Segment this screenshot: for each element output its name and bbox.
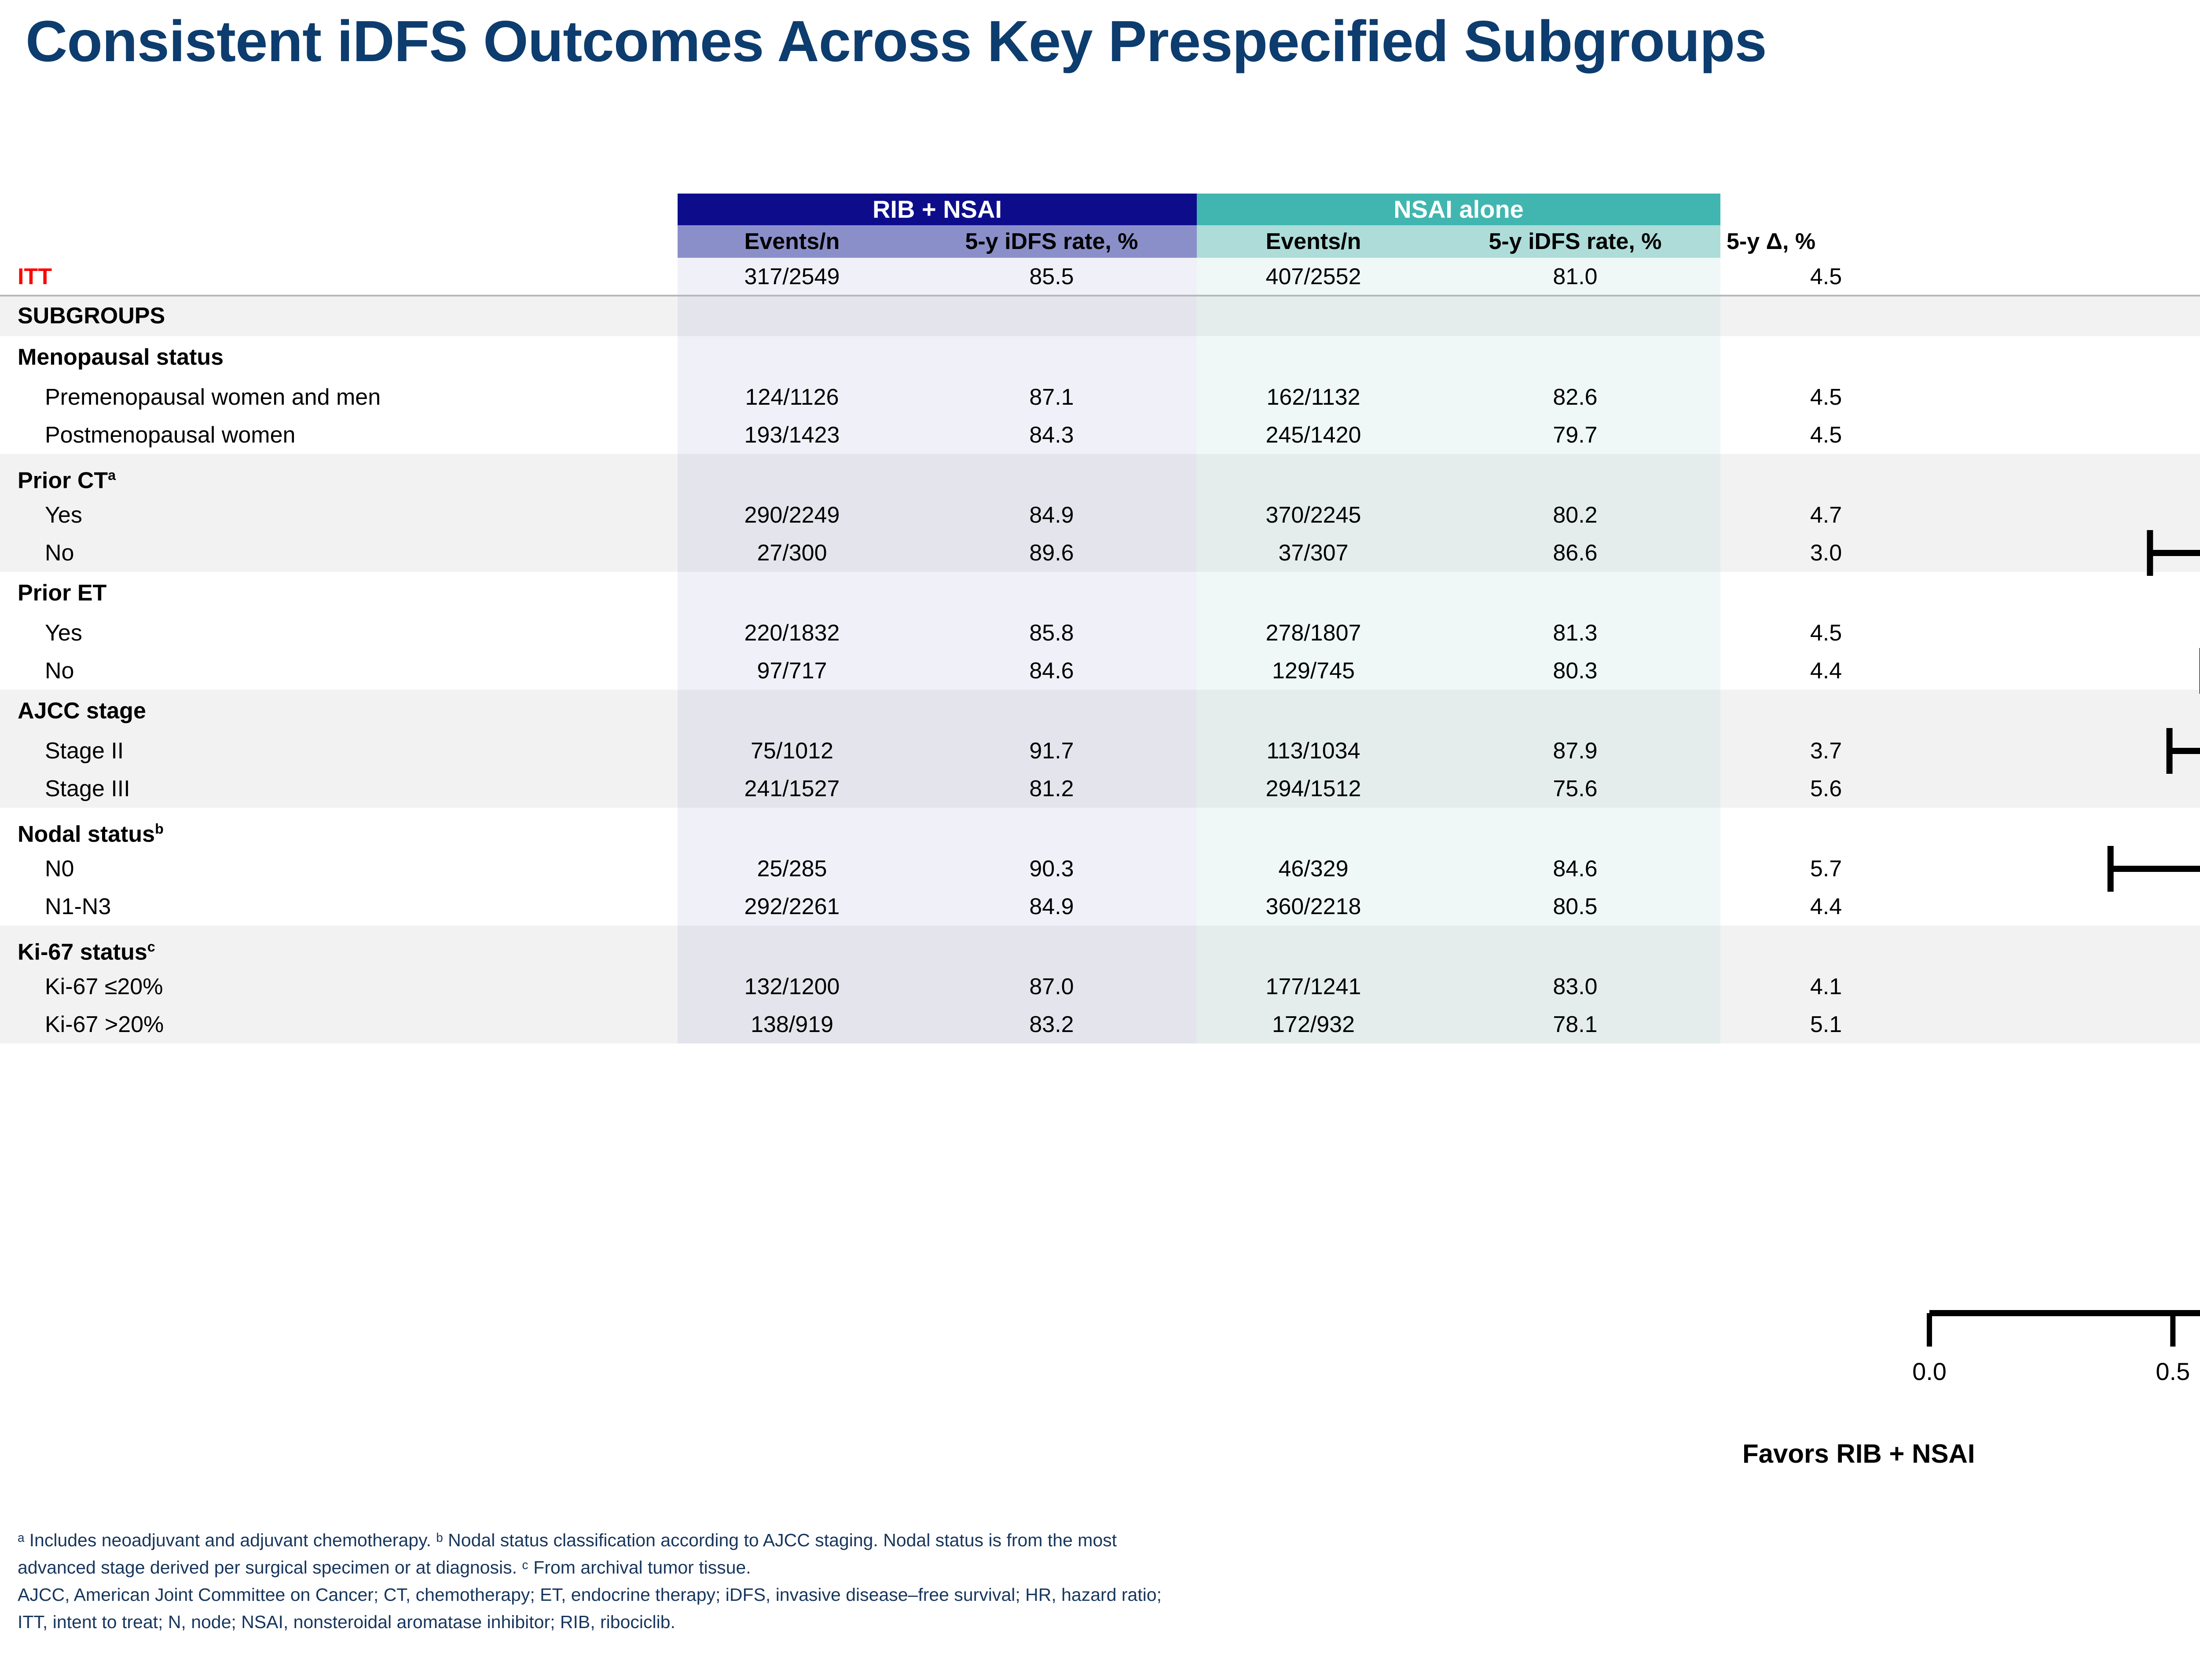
cell-delta: 4.5 <box>1720 614 1932 652</box>
cell-delta: 4.4 <box>1720 888 1932 926</box>
table-row: Postmenopausal women193/142384.3245/1420… <box>0 416 2200 454</box>
cell-delta: 4.4 <box>1720 652 1932 690</box>
table-row: Ki-67 >20%138/91983.2172/93278.15.10.743… <box>0 1006 2200 1043</box>
cell-delta: 4.1 <box>1720 968 1932 1006</box>
cell-events2: 172/932 <box>1197 1006 1430 1043</box>
cell-delta: 4.5 <box>1720 258 1932 296</box>
cell-rate1: 84.6 <box>906 652 1197 690</box>
table-row: Stage III241/152781.2294/151275.65.60.73… <box>0 770 2200 808</box>
cell-rate1: 84.3 <box>906 416 1197 454</box>
column-tint <box>678 336 1197 378</box>
cell-events1: 317/2549 <box>678 258 906 296</box>
header-group-rib: RIB + NSAI <box>678 194 1197 225</box>
row-label: Nodal statusb <box>18 808 678 855</box>
cell-rate1: 83.2 <box>906 1006 1197 1043</box>
itt-separator <box>0 295 2200 296</box>
cell-rate1: 84.9 <box>906 888 1197 926</box>
row-label: Stage II <box>18 732 678 770</box>
cell-events1: 193/1423 <box>678 416 906 454</box>
row-label: AJCC stage <box>18 690 678 732</box>
table-row: N025/28590.346/32984.65.70.6060.372-0.98… <box>0 850 2200 888</box>
table-row: No97/71784.6129/74580.34.40.7300.561-0.9… <box>0 652 2200 690</box>
header-group-nsai: NSAI alone <box>1197 194 1720 225</box>
cell-events2: 37/307 <box>1197 534 1430 572</box>
cell-events1: 132/1200 <box>678 968 906 1006</box>
cell-rate2: 83.0 <box>1430 968 1720 1006</box>
column-tint <box>1197 572 1720 614</box>
table-row: AJCC stage <box>0 690 2200 732</box>
cell-events1: 241/1527 <box>678 770 906 808</box>
table-row: N1-N3292/226184.9360/221880.54.40.7370.6… <box>0 888 2200 926</box>
row-label: No <box>18 534 678 572</box>
row-label: Prior CTa <box>18 454 678 501</box>
cell-rate2: 81.3 <box>1430 614 1720 652</box>
cell-events1: 75/1012 <box>678 732 906 770</box>
table-row: SUBGROUPS <box>0 296 2200 336</box>
cell-events1: 25/285 <box>678 850 906 888</box>
cell-delta: 3.7 <box>1720 732 1932 770</box>
cell-rate2: 79.7 <box>1430 416 1720 454</box>
row-label: ITT <box>18 258 678 296</box>
cell-delta: 4.7 <box>1720 496 1932 534</box>
column-tint <box>678 454 1197 496</box>
row-label: Ki-67 statusc <box>18 926 678 973</box>
column-tint <box>1197 690 1720 732</box>
header-events-rib: Events/n <box>678 225 906 258</box>
column-tint <box>1197 454 1720 496</box>
row-label: Yes <box>18 496 678 534</box>
table-row: Prior CTa <box>0 454 2200 496</box>
row-label: Ki-67 >20% <box>18 1006 678 1043</box>
forest-plot-axis <box>0 1304 2200 1410</box>
footnote-line: AJCC, American Joint Committee on Cancer… <box>18 1581 1822 1608</box>
cell-rate2: 86.6 <box>1430 534 1720 572</box>
favors-left-label: Favors RIB + NSAI <box>1742 1438 1975 1469</box>
cell-rate2: 81.0 <box>1430 258 1720 296</box>
table-row: Stage II75/101291.7113/103487.93.70.6600… <box>0 732 2200 770</box>
cell-delta: 4.5 <box>1720 416 1932 454</box>
cell-events2: 294/1512 <box>1197 770 1430 808</box>
cell-delta: 5.6 <box>1720 770 1932 808</box>
forest-plot-table: RIB + NSAI NSAI alone Events/n 5-y iDFS … <box>0 194 2200 1302</box>
row-label: SUBGROUPS <box>18 296 678 336</box>
row-label: N1-N3 <box>18 888 678 926</box>
cell-events2: 162/1132 <box>1197 378 1430 416</box>
cell-rate1: 85.5 <box>906 258 1197 296</box>
cell-rate1: 87.1 <box>906 378 1197 416</box>
cell-events2: 177/1241 <box>1197 968 1430 1006</box>
table-row: Ki-67 ≤20%132/120087.0177/124183.04.10.7… <box>0 968 2200 1006</box>
table-row: Yes220/183285.8278/180781.34.50.7260.608… <box>0 614 2200 652</box>
row-label: No <box>18 652 678 690</box>
row-label: Prior ET <box>18 572 678 614</box>
row-label: Ki-67 ≤20% <box>18 968 678 1006</box>
footnote-marker: b <box>155 821 164 837</box>
cell-rate2: 78.1 <box>1430 1006 1720 1043</box>
footnote-line: ᵃ Includes neoadjuvant and adjuvant chem… <box>18 1526 1822 1554</box>
cell-events1: 292/2261 <box>678 888 906 926</box>
cell-events1: 124/1126 <box>678 378 906 416</box>
column-tint <box>1197 926 1720 968</box>
cell-rate1: 89.6 <box>906 534 1197 572</box>
cell-rate2: 75.6 <box>1430 770 1720 808</box>
table-row: Nodal statusb <box>0 808 2200 850</box>
cell-events2: 245/1420 <box>1197 416 1430 454</box>
cell-delta: 3.0 <box>1720 534 1932 572</box>
header-rate-rib: 5-y iDFS rate, % <box>906 225 1197 258</box>
axis-tick-label: 0.5 <box>2129 1357 2200 1386</box>
cell-rate2: 80.5 <box>1430 888 1720 926</box>
cell-events1: 27/300 <box>678 534 906 572</box>
cell-events2: 360/2218 <box>1197 888 1430 926</box>
cell-rate2: 84.6 <box>1430 850 1720 888</box>
footnote-marker: c <box>147 939 155 955</box>
header-events-nsai: Events/n <box>1197 225 1430 258</box>
table-row: Prior ET <box>0 572 2200 614</box>
cell-rate2: 82.6 <box>1430 378 1720 416</box>
cell-events1: 290/2249 <box>678 496 906 534</box>
row-label: N0 <box>18 850 678 888</box>
cell-rate2: 80.2 <box>1430 496 1720 534</box>
column-tint <box>1197 336 1720 378</box>
row-label: Postmenopausal women <box>18 416 678 454</box>
cell-delta: 5.1 <box>1720 1006 1932 1043</box>
cell-rate1: 87.0 <box>906 968 1197 1006</box>
cell-events2: 407/2552 <box>1197 258 1430 296</box>
page-title: Consistent iDFS Outcomes Across Key Pres… <box>26 8 1767 74</box>
column-tint <box>1197 808 1720 850</box>
footnote-marker: a <box>108 467 116 483</box>
cell-events2: 370/2245 <box>1197 496 1430 534</box>
cell-rate1: 84.9 <box>906 496 1197 534</box>
footnote-line: advanced stage derived per surgical spec… <box>18 1554 1822 1581</box>
column-tint <box>678 690 1197 732</box>
table-row: Yes290/224984.9370/224580.24.70.7220.619… <box>0 496 2200 534</box>
table-row: Premenopausal women and men124/112687.11… <box>0 378 2200 416</box>
cell-events1: 138/919 <box>678 1006 906 1043</box>
cell-delta: 4.5 <box>1720 378 1932 416</box>
column-tint <box>678 296 1197 336</box>
cell-rate1: 81.2 <box>906 770 1197 808</box>
table-row: ITT317/254985.5407/255281.04.50.7160.618… <box>0 258 2200 296</box>
cell-rate1: 85.8 <box>906 614 1197 652</box>
header-rate-nsai: 5-y iDFS rate, % <box>1430 225 1720 258</box>
cell-events2: 278/1807 <box>1197 614 1430 652</box>
cell-rate1: 91.7 <box>906 732 1197 770</box>
row-label: Menopausal status <box>18 336 678 378</box>
cell-events2: 113/1034 <box>1197 732 1430 770</box>
row-label: Yes <box>18 614 678 652</box>
row-label: Premenopausal women and men <box>18 378 678 416</box>
cell-events1: 97/717 <box>678 652 906 690</box>
cell-events2: 46/329 <box>1197 850 1430 888</box>
axis-tick-labels: 0.00.51.01.5 <box>0 0 2200 0</box>
table-row: No27/30089.637/30786.63.00.7440.453-1.22… <box>0 534 2200 572</box>
footnote-line: ITT, intent to treat; N, node; NSAI, non… <box>18 1608 1822 1636</box>
cell-delta: 5.7 <box>1720 850 1932 888</box>
axis-tick-label: 0.0 <box>1885 1357 1973 1386</box>
column-tint <box>678 808 1197 850</box>
header-delta: 5-y Δ, % <box>1720 225 1932 258</box>
table-body: ITT317/254985.5407/255281.04.50.7160.618… <box>0 258 2200 1043</box>
cell-rate2: 87.9 <box>1430 732 1720 770</box>
header-hr-ci-plot: HR (95% CI) <box>1932 225 2200 258</box>
column-tint <box>678 926 1197 968</box>
cell-rate1: 90.3 <box>906 850 1197 888</box>
table-row: Menopausal status <box>0 336 2200 378</box>
cell-rate2: 80.3 <box>1430 652 1720 690</box>
row-label: Stage III <box>18 770 678 808</box>
cell-events1: 220/1832 <box>678 614 906 652</box>
column-tint <box>1197 296 1720 336</box>
column-tint <box>678 572 1197 614</box>
footnotes-block: ᵃ Includes neoadjuvant and adjuvant chem… <box>18 1526 1822 1636</box>
cell-events2: 129/745 <box>1197 652 1430 690</box>
table-row: Ki-67 statusc <box>0 926 2200 968</box>
